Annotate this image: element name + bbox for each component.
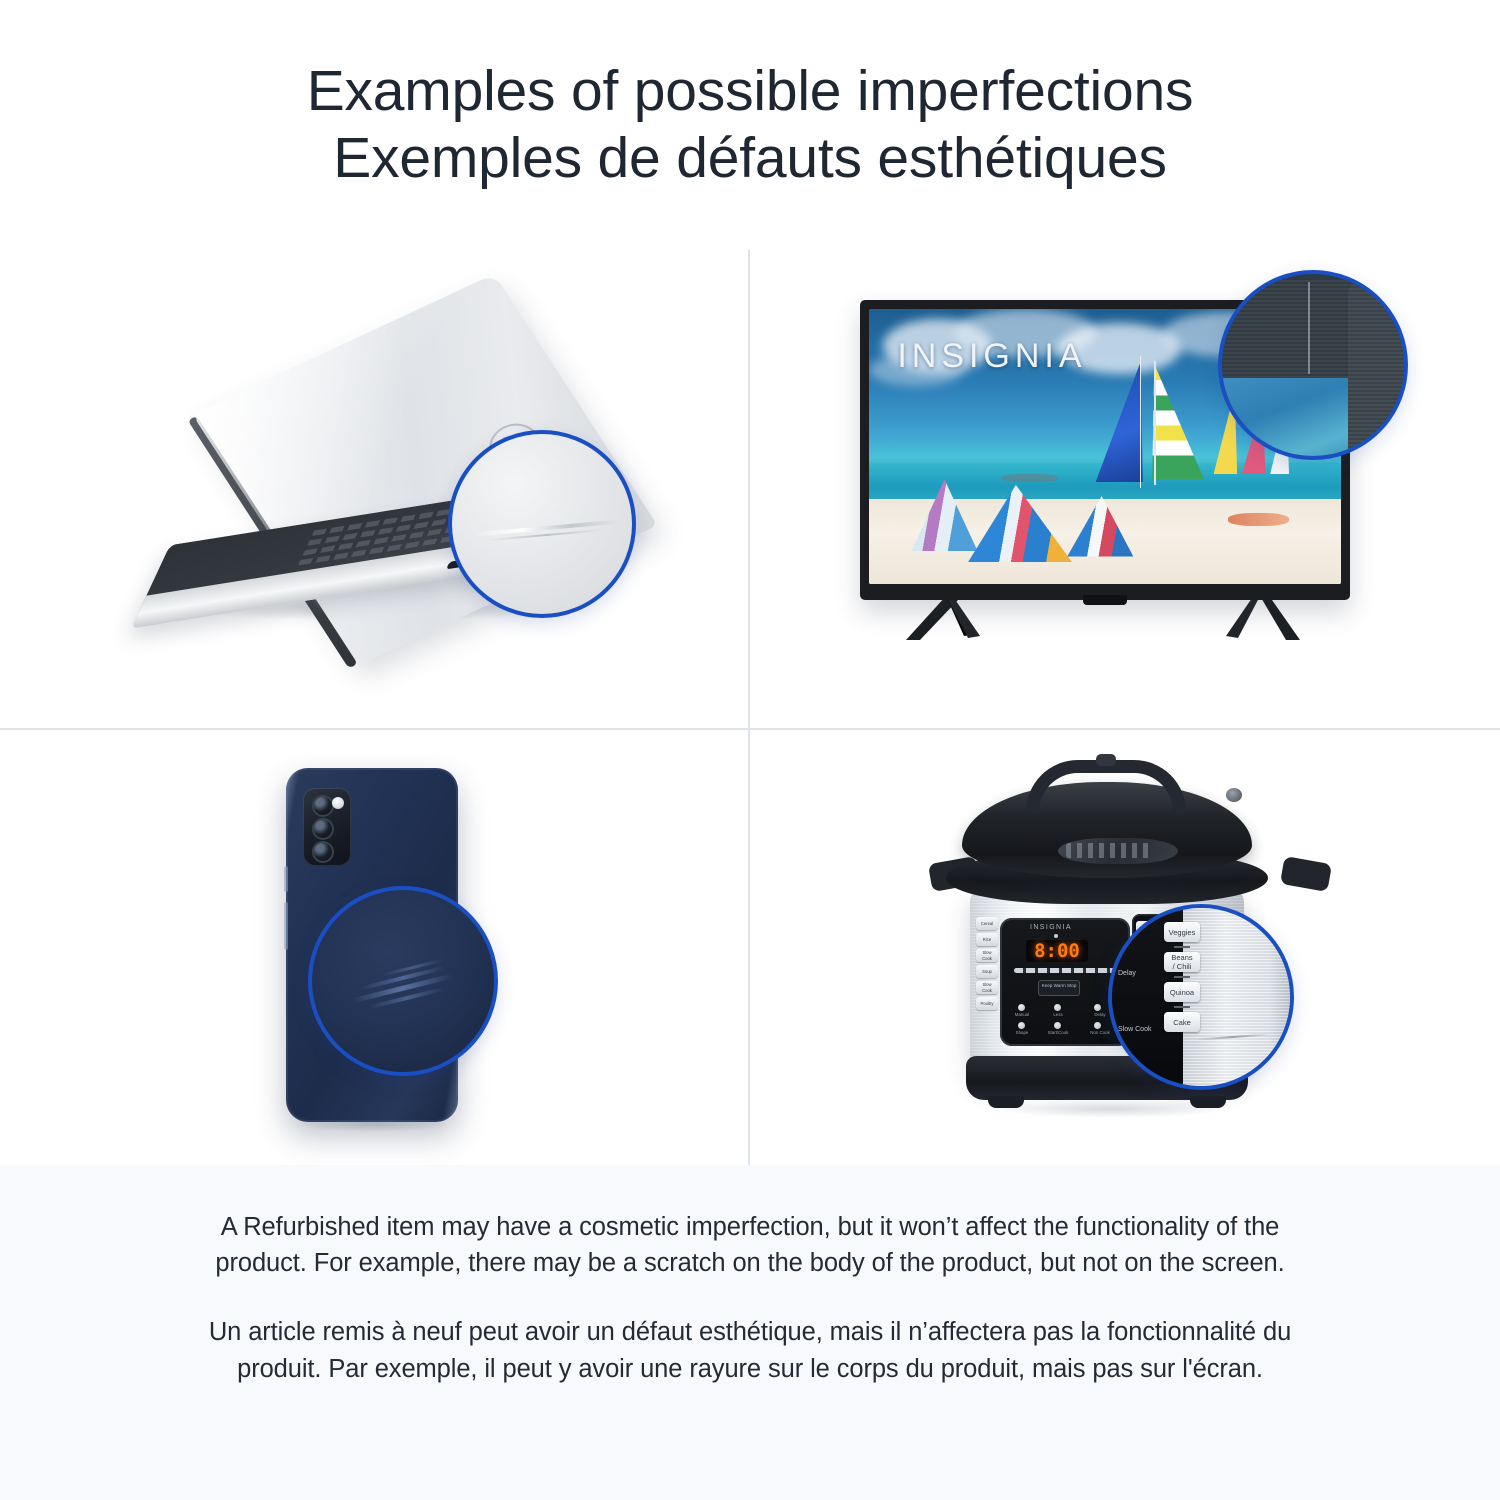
- page-title-fr: Exemples de défauts esthétiques: [333, 125, 1167, 192]
- tv-scene-distant-boat: [1001, 474, 1058, 482]
- magnifier-smartphone: [308, 886, 498, 1076]
- footer-paragraph-en: A Refurbished item may have a cosmetic i…: [185, 1209, 1315, 1281]
- tv-leg-left: [902, 596, 986, 642]
- panel-pressure-cooker: Cereal Rice Slow Cook Soup Slow Cook Pou…: [750, 730, 1500, 1165]
- camera-lens-2-icon: [312, 818, 334, 840]
- tv-scene-mast-2: [1154, 361, 1156, 485]
- tv-scene-catamaran: [1228, 513, 1289, 527]
- cooker-key-label: Non Cook: [1086, 1030, 1114, 1035]
- magnifier-television: [1218, 270, 1408, 460]
- cooker-brand-label: INSIGNIA: [1030, 924, 1072, 931]
- tv-scene-mast-1: [1140, 356, 1142, 488]
- page-header: Examples of possible imperfections Exemp…: [0, 0, 1500, 250]
- phone-camera-module: [303, 788, 351, 866]
- cooker-indicator-led: [1054, 934, 1058, 938]
- cooker-lid-knob: [1096, 754, 1116, 766]
- cooker-detail-label: Slow Cook: [1118, 1026, 1151, 1033]
- camera-lens-3-icon: [312, 841, 334, 863]
- cooker-key-label: Manual: [1008, 1012, 1036, 1017]
- cooker-left-button-column: Cereal Rice Slow Cook Soup Slow Cook Pou…: [974, 914, 1000, 1054]
- cooker-lid-handle: [1026, 760, 1186, 812]
- pressure-cooker-illustration: Cereal Rice Slow Cook Soup Slow Cook Pou…: [940, 756, 1320, 1146]
- cooker-button[interactable]: Cereal: [976, 917, 998, 930]
- page-footer: A Refurbished item may have a cosmetic i…: [0, 1165, 1500, 1500]
- panel-television: INSIGNIA: [750, 250, 1500, 728]
- cooker-detail-button[interactable]: Beans / Chili: [1164, 952, 1200, 972]
- cooker-lid-plate: [1058, 838, 1178, 864]
- cooker-button[interactable]: Poultry: [976, 997, 998, 1010]
- tv-brand-label: INSIGNIA: [897, 337, 1086, 376]
- product-examples-grid: INSIGNIA: [0, 250, 1500, 1165]
- cooker-detail-button[interactable]: Cake: [1164, 1012, 1200, 1032]
- cooker-key-label: Less: [1044, 1012, 1072, 1017]
- cooker-button[interactable]: Slow Cook: [976, 981, 998, 994]
- tv-corner-side-detail: [1348, 280, 1408, 460]
- cooker-key-label: Start/Cook: [1044, 1030, 1072, 1035]
- tv-bottom-bezel: [869, 584, 1341, 600]
- tv-corner-screen-detail: [1218, 374, 1362, 460]
- phone-power-button: [284, 902, 288, 950]
- phone-scratch-3: [369, 987, 446, 1010]
- cooker-mode-display: Keep Warm Stop: [1038, 980, 1080, 996]
- page-title-en: Examples of possible imperfections: [307, 58, 1194, 125]
- footer-paragraph-fr: Un article remis à neuf peut avoir un dé…: [185, 1314, 1315, 1386]
- cooker-detail-button[interactable]: Veggies: [1164, 922, 1200, 942]
- magnifier-laptop: [448, 430, 636, 618]
- camera-flash-icon: [332, 797, 344, 809]
- cooker-button[interactable]: Soup: [976, 965, 998, 978]
- cooker-foot-left: [988, 1096, 1024, 1108]
- laptop-illustration: [130, 310, 650, 660]
- refurbished-imperfections-infographic: Examples of possible imperfections Exemp…: [0, 0, 1500, 1500]
- tv-leg-right: [1220, 596, 1304, 642]
- cooker-detail-button[interactable]: Quinoa: [1164, 982, 1200, 1002]
- cooker-mode-display-text: Keep Warm Stop: [1038, 983, 1080, 988]
- cooker-detail-label: Delay: [1118, 970, 1136, 977]
- cooker-progress-bar: [1014, 968, 1118, 973]
- smartphone-illustration: [248, 758, 508, 1138]
- cooker-button[interactable]: Rice: [976, 933, 998, 946]
- cooker-button[interactable]: Slow Cook: [976, 949, 998, 962]
- television-illustration: INSIGNIA: [860, 278, 1380, 668]
- cooker-foot-right: [1190, 1096, 1226, 1108]
- cooker-keypad: Manual Less Delay Shape Start/Cook Non C…: [1010, 1002, 1122, 1042]
- cooker-steam-vent-icon: [1226, 788, 1242, 802]
- panel-laptop: [0, 250, 748, 728]
- cooker-handle-right: [1280, 856, 1332, 892]
- tv-ir-sensor-icon: [1083, 595, 1127, 605]
- cooker-key-label: Shape: [1008, 1030, 1036, 1035]
- panel-smartphone: [0, 730, 748, 1165]
- tv-bezel-scuff-mark: [1308, 282, 1310, 374]
- magnifier-pressure-cooker: Delay Slow Cook Veggies Beans / Chili Qu…: [1108, 904, 1294, 1090]
- phone-volume-button: [284, 866, 288, 892]
- cooker-display: 8:00: [1026, 940, 1088, 962]
- camera-lens-1-icon: [312, 795, 334, 817]
